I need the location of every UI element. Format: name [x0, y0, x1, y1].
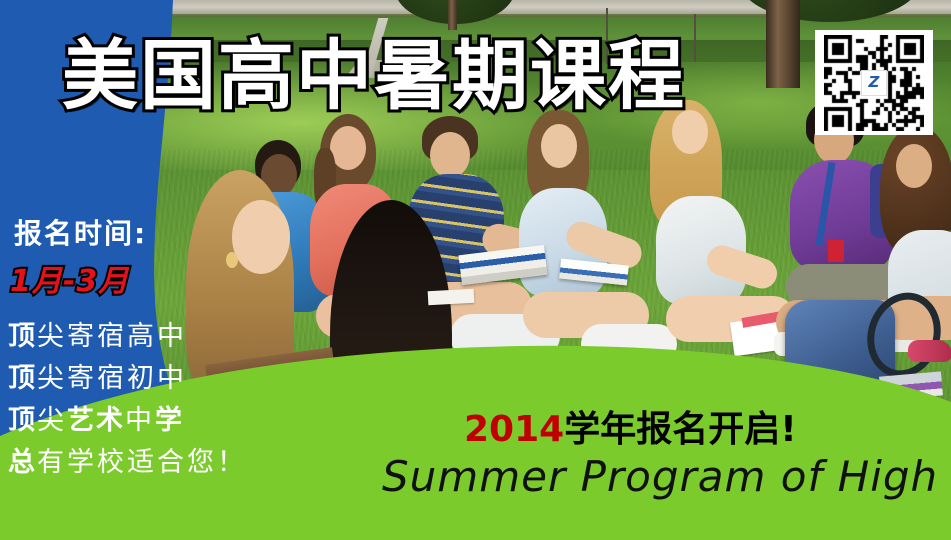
notebook-2: [428, 289, 475, 305]
promo-banner: 美国高中暑期课程 报名时间: 1月-3月 顶尖寄宿高中 顶尖寄宿初中 顶尖艺术中…: [0, 0, 951, 540]
feature-list: 顶尖寄宿高中 顶尖寄宿初中 顶尖艺术中学 总有学校适合您！: [8, 316, 238, 484]
feature-item-1-rest: 尖寄宿高中: [37, 321, 187, 352]
signup-time-label: 报名时间:: [14, 212, 147, 252]
green-banner-headline: 2014学年报名开启!: [464, 400, 797, 452]
green-banner-headline-rest: 学年报名开启!: [564, 409, 796, 450]
feature-item-3-strong2: 艺术: [67, 405, 125, 436]
qr-code[interactable]: Z: [824, 35, 924, 131]
feature-item-4-strong: 总: [8, 447, 37, 478]
feature-item-1-strong: 顶: [8, 321, 37, 352]
pole-2: [694, 14, 696, 62]
qr-logo-letter: Z: [869, 75, 880, 90]
feature-item-3-mid: 尖: [37, 405, 67, 436]
feature-item-3-strong3: 学: [155, 405, 184, 436]
green-banner-subtitle: Summer Program of High School: [382, 452, 951, 501]
feature-item-3-strong: 顶: [8, 405, 37, 436]
year-label: 2014: [464, 409, 564, 450]
feature-item-4: 总有学校适合您！: [8, 442, 238, 484]
tree-trunk-right: [766, 0, 800, 88]
feature-item-2-strong: 顶: [8, 363, 37, 394]
signup-period: 1月-3月: [10, 256, 129, 300]
feature-item-2: 顶尖寄宿初中: [8, 358, 238, 400]
tree-trunk-left: [448, 0, 457, 30]
feature-item-3: 顶尖艺术中学: [8, 400, 238, 442]
feature-item-3-mid2: 中: [125, 405, 155, 436]
qr-center-logo: Z: [861, 70, 887, 96]
page-title: 美国高中暑期课程: [62, 36, 686, 116]
qr-code-container[interactable]: Z: [815, 30, 933, 135]
feature-item-1: 顶尖寄宿高中: [8, 316, 238, 358]
feature-item-4-rest: 有学校适合您！: [37, 447, 247, 478]
feature-item-2-rest: 尖寄宿初中: [37, 363, 187, 394]
